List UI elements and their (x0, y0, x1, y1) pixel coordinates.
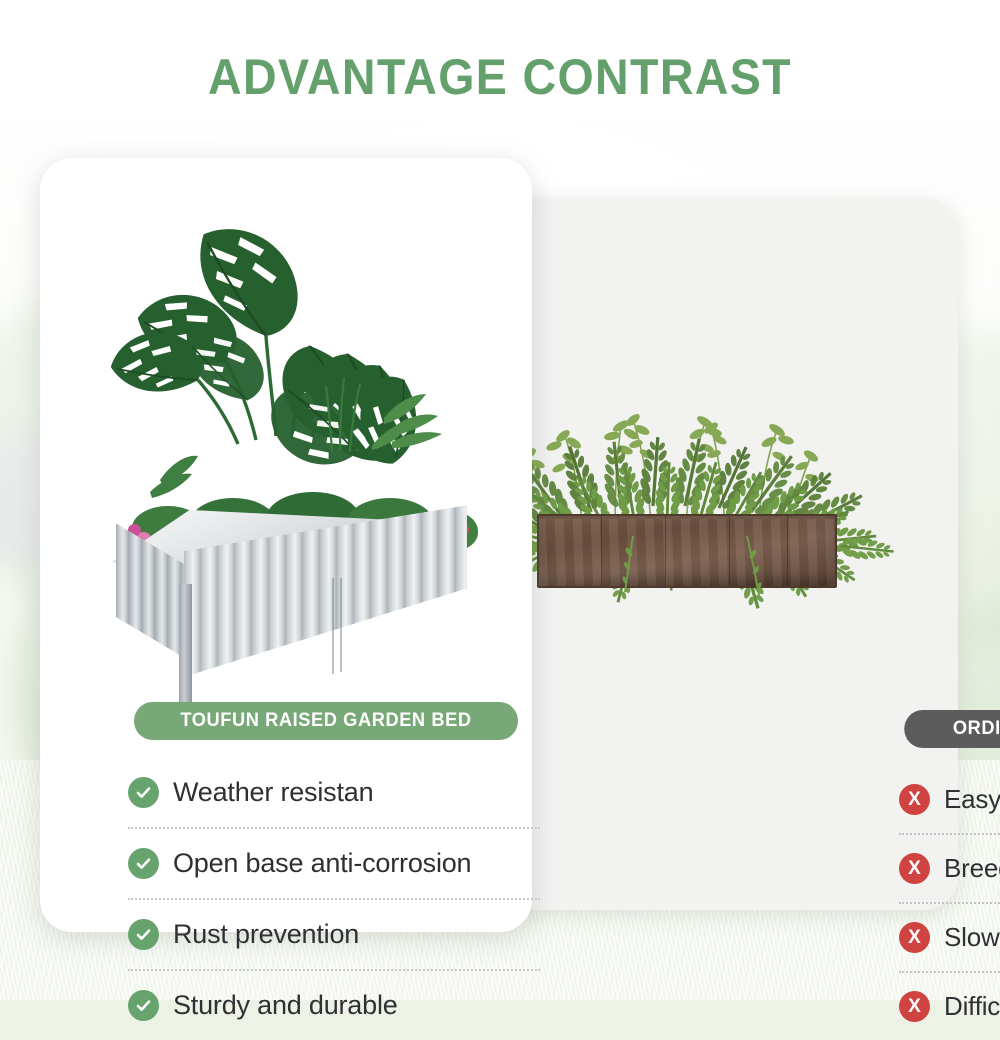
list-item: Weather resistan (128, 758, 540, 827)
list-item: Open base anti-corrosion (128, 829, 540, 898)
list-item: X Difficulty in penetration (899, 973, 1000, 1040)
list-item: X Breeding bacteria (899, 835, 1000, 902)
feature-label: Slow plant growth (944, 922, 1000, 953)
list-item: X Slow plant growth (899, 904, 1000, 971)
toufun-badge: TOUFUN RAISED GARDEN BED (134, 702, 518, 740)
x-icon: X (899, 991, 930, 1022)
toufun-product-image (40, 180, 532, 650)
feature-label: Rust prevention (173, 919, 359, 950)
list-item: Sturdy and durable (128, 971, 540, 1040)
feature-label: Open base anti-corrosion (173, 848, 471, 879)
feature-label: Difficulty in penetration (944, 991, 1000, 1022)
comparison-card-toufun: TOUFUN RAISED GARDEN BED Weather resista… (40, 158, 532, 932)
check-icon (128, 777, 159, 808)
list-item: X Easy to damage (899, 766, 1000, 833)
bed-corner-post (179, 584, 192, 712)
bed-panel-seam (332, 578, 334, 674)
list-item: Rust prevention (128, 900, 540, 969)
ordinary-badge: ORDINARY PLANTING BED (904, 710, 1000, 748)
check-icon (128, 919, 159, 950)
x-icon: X (899, 853, 930, 884)
feature-label: Breeding bacteria (944, 853, 1000, 884)
page-title: ADVANTAGE CONTRAST (35, 52, 965, 102)
feature-label: Easy to damage (944, 784, 1000, 815)
feature-label: Weather resistan (173, 777, 373, 808)
x-icon: X (899, 922, 930, 953)
feature-label: Sturdy and durable (173, 990, 398, 1021)
toufun-feature-list: Weather resistan Open base anti-corrosio… (128, 758, 540, 1040)
check-icon (128, 848, 159, 879)
ordinary-feature-list: X Easy to damage X Breeding bacteria X S… (899, 766, 1000, 1040)
check-icon (128, 990, 159, 1021)
bed-panel-seam (340, 578, 342, 672)
x-icon: X (899, 784, 930, 815)
